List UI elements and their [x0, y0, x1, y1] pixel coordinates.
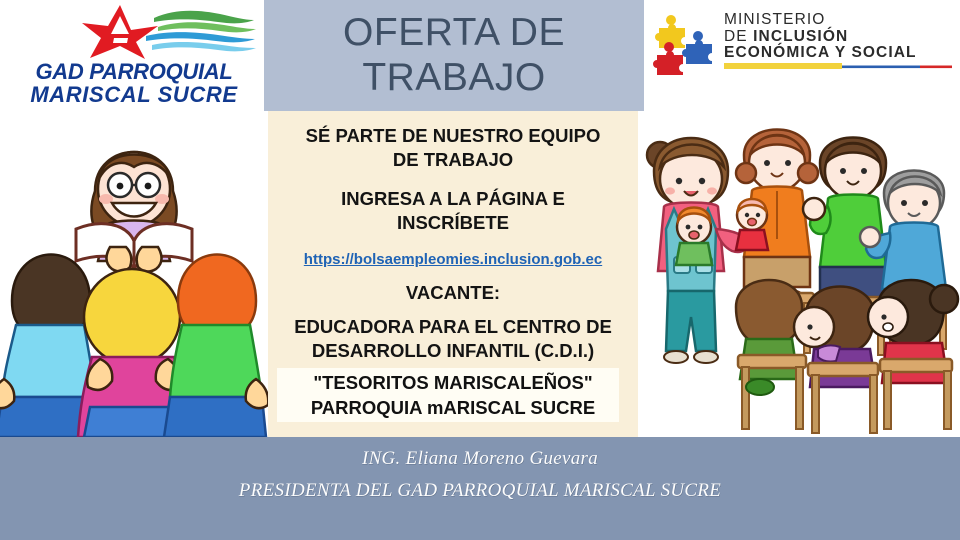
header-band: GAD PARROQUIAL MARISCAL SUCRE OFERTA DE … [0, 0, 960, 111]
signatory-role: PRESIDENTA DEL GAD PARROQUIAL MARISCAL S… [0, 480, 960, 502]
main-content: ¡Postúlate! SÉ PARTE DE NUESTRO EQUIPO D… [0, 111, 960, 437]
signup-copy: INGRESA A LA PÁGINA E INSCRÍBETE [268, 187, 638, 235]
teacher-reading-book-graphic [0, 111, 268, 437]
gad-parroquial-logo: GAD PARROQUIAL MARISCAL SUCRE [6, 2, 258, 108]
mies-wordmark-line2: DE INCLUSIÓN [724, 29, 952, 46]
signatory-name: ING. Eliana Moreno Guevara [0, 448, 960, 470]
mies-line2-prefix: DE [724, 28, 753, 45]
illustration-classroom: ¡Postúlate! [638, 111, 960, 437]
mies-wordmark: MINISTERIO DE INCLUSIÓN ECONÓMICA Y SOCI… [724, 12, 952, 62]
page-title: OFERTA DE TRABAJO [268, 1, 640, 109]
ecuador-flag-bar [724, 63, 952, 72]
team-copy-line1: SÉ PARTE DE NUESTRO EQUIPO [268, 124, 638, 148]
vacancy-position-line2: DESARROLLO INFANTIL (C.D.I.) [268, 339, 638, 363]
cdi-name: "TESORITOS MARISCALEÑOS" PARROQUIA mARIS… [268, 370, 638, 420]
cdi-name-line2: PARROQUIA mARISCAL SUCRE [268, 395, 638, 420]
classroom-scene-graphic [638, 111, 960, 437]
page-title-line2: TRABAJO [343, 55, 565, 100]
illustration-teacher-reading: ¡Postúlate! [0, 111, 268, 437]
application-url-link[interactable]: https://bolsaempleomies.inclusion.gob.ec [268, 251, 638, 268]
vacancy-label: VACANTE: [268, 281, 638, 305]
gad-wordmark-line1: GAD PARROQUIAL [10, 60, 258, 83]
mies-line2-bold: INCLUSIÓN [753, 28, 848, 45]
mies-ministry-logo: MINISTERIO DE INCLUSIÓN ECONÓMICA Y SOCI… [652, 8, 954, 84]
job-offer-poster: GAD PARROQUIAL MARISCAL SUCRE OFERTA DE … [0, 0, 960, 540]
page-title-line1: OFERTA DE [343, 10, 565, 55]
footer-band: ING. Eliana Moreno Guevara PRESIDENTA DE… [0, 437, 960, 540]
signup-copy-line2: INSCRÍBETE [268, 211, 638, 235]
gad-star-waves-icon [68, 4, 258, 60]
gad-logo-wordmark: GAD PARROQUIAL MARISCAL SUCRE [10, 60, 258, 106]
vacancy-position: EDUCADORA PARA EL CENTRO DE DESARROLLO I… [268, 315, 638, 363]
gad-wordmark-line2: MARISCAL SUCRE [10, 83, 258, 106]
signup-copy-line1: INGRESA A LA PÁGINA E [268, 187, 638, 211]
mies-wordmark-line3: ECONÓMICA Y SOCIAL [724, 45, 952, 62]
puzzle-people-icon [652, 14, 718, 76]
mies-wordmark-line1: MINISTERIO [724, 12, 952, 29]
team-copy-line2: DE TRABAJO [268, 148, 638, 172]
team-copy: SÉ PARTE DE NUESTRO EQUIPO DE TRABAJO [268, 124, 638, 172]
center-text-panel: SÉ PARTE DE NUESTRO EQUIPO DE TRABAJO IN… [268, 111, 638, 437]
vacancy-position-line1: EDUCADORA PARA EL CENTRO DE [268, 315, 638, 339]
cdi-name-line1: "TESORITOS MARISCALEÑOS" [268, 370, 638, 395]
